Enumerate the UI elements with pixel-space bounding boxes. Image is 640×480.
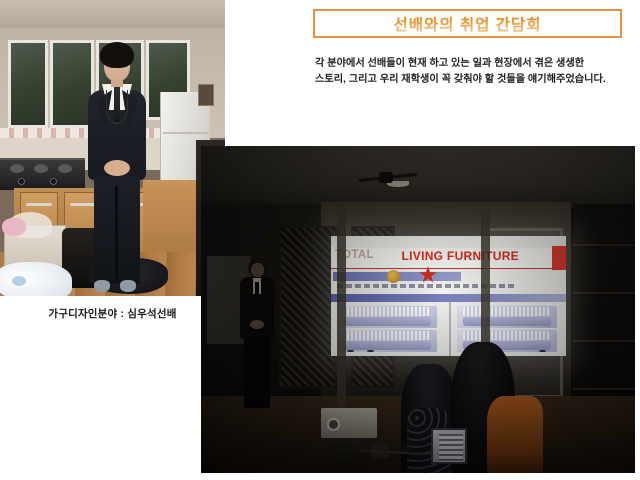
slide-body-text: 각 분야에서 선배들이 현재 하고 있는 일과 현장에서 겪은 생생한 스토리,… [315, 56, 615, 87]
mattress-top [343, 331, 431, 339]
projector [321, 408, 377, 438]
audience-member-orange-jacket [487, 396, 543, 473]
trousers [94, 176, 140, 284]
slide-text-line [337, 284, 517, 288]
mattress-foot [367, 350, 374, 352]
photo-left-caption: 가구디자인분야 : 심우석선배 [0, 306, 225, 321]
ceiling [201, 146, 635, 208]
photo-right-presentation: TOTAL LIVING FURNITURE [201, 146, 635, 473]
necktie [255, 282, 259, 296]
ceiling-fan-icon [359, 170, 417, 184]
slide-column-divider [449, 302, 451, 356]
wall-picture [198, 84, 214, 106]
mattress-product-image [457, 306, 557, 328]
slide-title-text: 선배와의 취업 간담회 [394, 13, 542, 35]
shelf-line [573, 244, 635, 246]
stove-burner [58, 164, 72, 173]
cabinet-handle [26, 203, 52, 206]
slide-band [331, 294, 566, 302]
clasped-hands [104, 160, 130, 176]
slide-badge-icon [387, 270, 400, 283]
shelf-line [573, 292, 635, 294]
laptop [429, 428, 469, 472]
laptop-screen [431, 428, 467, 464]
projection-screen: TOTAL LIVING FURNITURE [331, 236, 566, 356]
projector-stand [325, 436, 363, 470]
shelf-line [573, 340, 635, 342]
lanyard [106, 90, 128, 124]
floor-cushion [0, 262, 72, 296]
mattress-foot [347, 350, 354, 352]
slide-accent-block [552, 246, 566, 270]
mattress-base [463, 317, 551, 326]
ceiling-light [387, 181, 409, 187]
trousers [244, 338, 270, 408]
stove-knob [50, 178, 57, 185]
pink-bag [2, 218, 26, 236]
wall-beam [337, 202, 346, 407]
sock [94, 280, 110, 292]
photo-left-speaker [0, 0, 225, 296]
mattress-product-image [337, 330, 437, 352]
stove-burner [34, 164, 48, 173]
mattress-top [463, 307, 551, 315]
projector-lens [327, 418, 340, 431]
standing-speaker [80, 42, 152, 296]
laptop-screen-content [439, 434, 463, 462]
sock [120, 280, 136, 292]
slide-title-box: 선배와의 취업 간담회 [313, 9, 622, 38]
mattress-base [343, 341, 431, 350]
stove-burner [10, 164, 24, 173]
hair [100, 42, 134, 68]
stove-knob [18, 178, 25, 185]
mattress-top [343, 307, 431, 315]
mattress-base [343, 317, 431, 326]
ceiling [0, 0, 225, 30]
clasped-hands [250, 320, 264, 329]
presenting-speaker [239, 258, 275, 408]
mattress-top [463, 331, 551, 339]
window-pane [8, 40, 48, 128]
mattress-product-image [337, 306, 437, 328]
projected-slide-title: LIVING FURNITURE [401, 249, 518, 263]
lattice-door [279, 226, 337, 388]
gas-stove [0, 158, 85, 190]
face [251, 263, 264, 277]
shelf-line [573, 388, 635, 390]
mattress-foot [539, 350, 546, 352]
kitchen-cabinet [143, 180, 203, 258]
presentation-slide: 선배와의 취업 간담회 각 분야에서 선배들이 현재 하고 있는 일과 현장에서… [0, 0, 640, 480]
